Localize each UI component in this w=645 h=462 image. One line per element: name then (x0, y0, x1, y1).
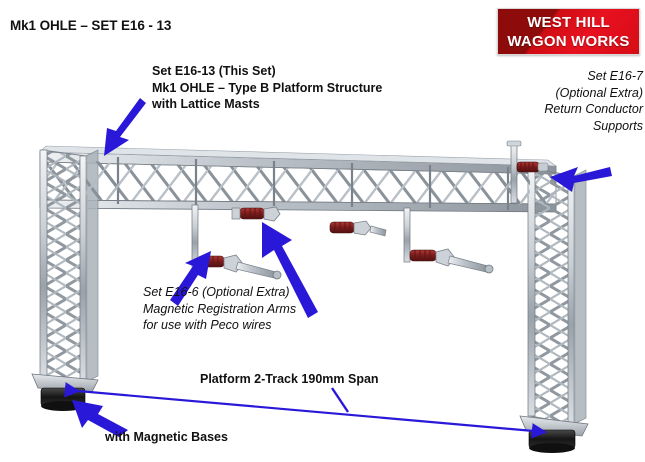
registration-arm-3 (330, 221, 386, 236)
annotation-return-conductor: Set E16-7 (Optional Extra) Return Conduc… (495, 68, 643, 134)
lattice-mast-left (40, 150, 120, 382)
registration-arm-2 (232, 207, 280, 221)
annotation-this-set-line-1: Set E16-13 (This Set) (152, 63, 382, 80)
annotation-magnetic-bases: with Magnetic Bases (105, 430, 228, 444)
annotation-registration-arms-line-1: Set E16-6 (Optional Extra) (143, 284, 296, 301)
magnetic-base-left (32, 374, 98, 411)
annotation-this-set: Set E16-13 (This Set) Mk1 OHLE – Type B … (152, 63, 382, 113)
annotation-return-conductor-line-4: Supports (495, 118, 643, 135)
slide-canvas: Mk1 OHLE – SET E16 - 13 WEST HILL WAGON … (0, 0, 645, 462)
annotation-return-conductor-line-3: Return Conductor (495, 101, 643, 118)
registration-arm-4 (404, 208, 493, 273)
annotation-return-conductor-line-1: Set E16-7 (495, 68, 643, 85)
annotation-this-set-line-2: Mk1 OHLE – Type B Platform Structure (152, 80, 382, 97)
annotation-registration-arms: Set E16-6 (Optional Extra) Magnetic Regi… (143, 284, 296, 334)
annotation-return-conductor-line-2: (Optional Extra) (495, 85, 643, 102)
annotation-span: Platform 2-Track 190mm Span (200, 372, 379, 386)
annotation-this-set-line-3: with Lattice Masts (152, 96, 382, 113)
annotation-registration-arms-line-2: Magnetic Registration Arms (143, 301, 296, 318)
annotation-registration-arms-line-3: for use with Peco wires (143, 317, 296, 334)
